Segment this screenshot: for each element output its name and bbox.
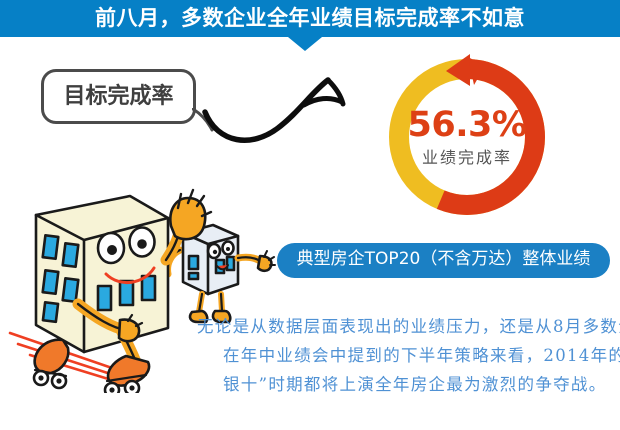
large-building-character: [34, 190, 211, 393]
goal-callout-bubble: 目标完成率: [41, 69, 196, 124]
infographic-canvas: 前八月，多数企业全年业绩目标完成率不如意 目标完成率 56.3% 业绩完成率: [0, 0, 620, 430]
header-bar: 前八月，多数企业全年业绩目标完成率不如意: [0, 0, 620, 37]
curved-arrow-icon: [200, 72, 370, 167]
body-paragraph: 无论是从数据层面表现出的业绩压力，还是从8月多数企业 在年中业绩会中提到的下半年…: [197, 312, 609, 399]
chart-subject-pill: 典型房企TOP20（不含万达）整体业绩: [277, 243, 610, 278]
chart-subject-label: 典型房企TOP20（不含万达）整体业绩: [277, 243, 610, 278]
donut-svg: [382, 52, 552, 222]
header-notch-triangle: [288, 37, 322, 51]
paragraph-line: 无论是从数据层面表现出的业绩压力，还是从8月多数企业: [197, 312, 609, 341]
donut-arrowhead-icon: [446, 54, 485, 86]
paragraph-line: 银十”时期都将上演全年房企最为激烈的争夺战。: [197, 370, 609, 399]
page-title: 前八月，多数企业全年业绩目标完成率不如意: [0, 0, 620, 37]
goal-callout-label: 目标完成率: [44, 72, 193, 121]
paragraph-line: 在年中业绩会中提到的下半年策略来看，2014年的“金九: [197, 341, 609, 370]
performance-donut-chart: 56.3% 业绩完成率: [382, 52, 552, 222]
